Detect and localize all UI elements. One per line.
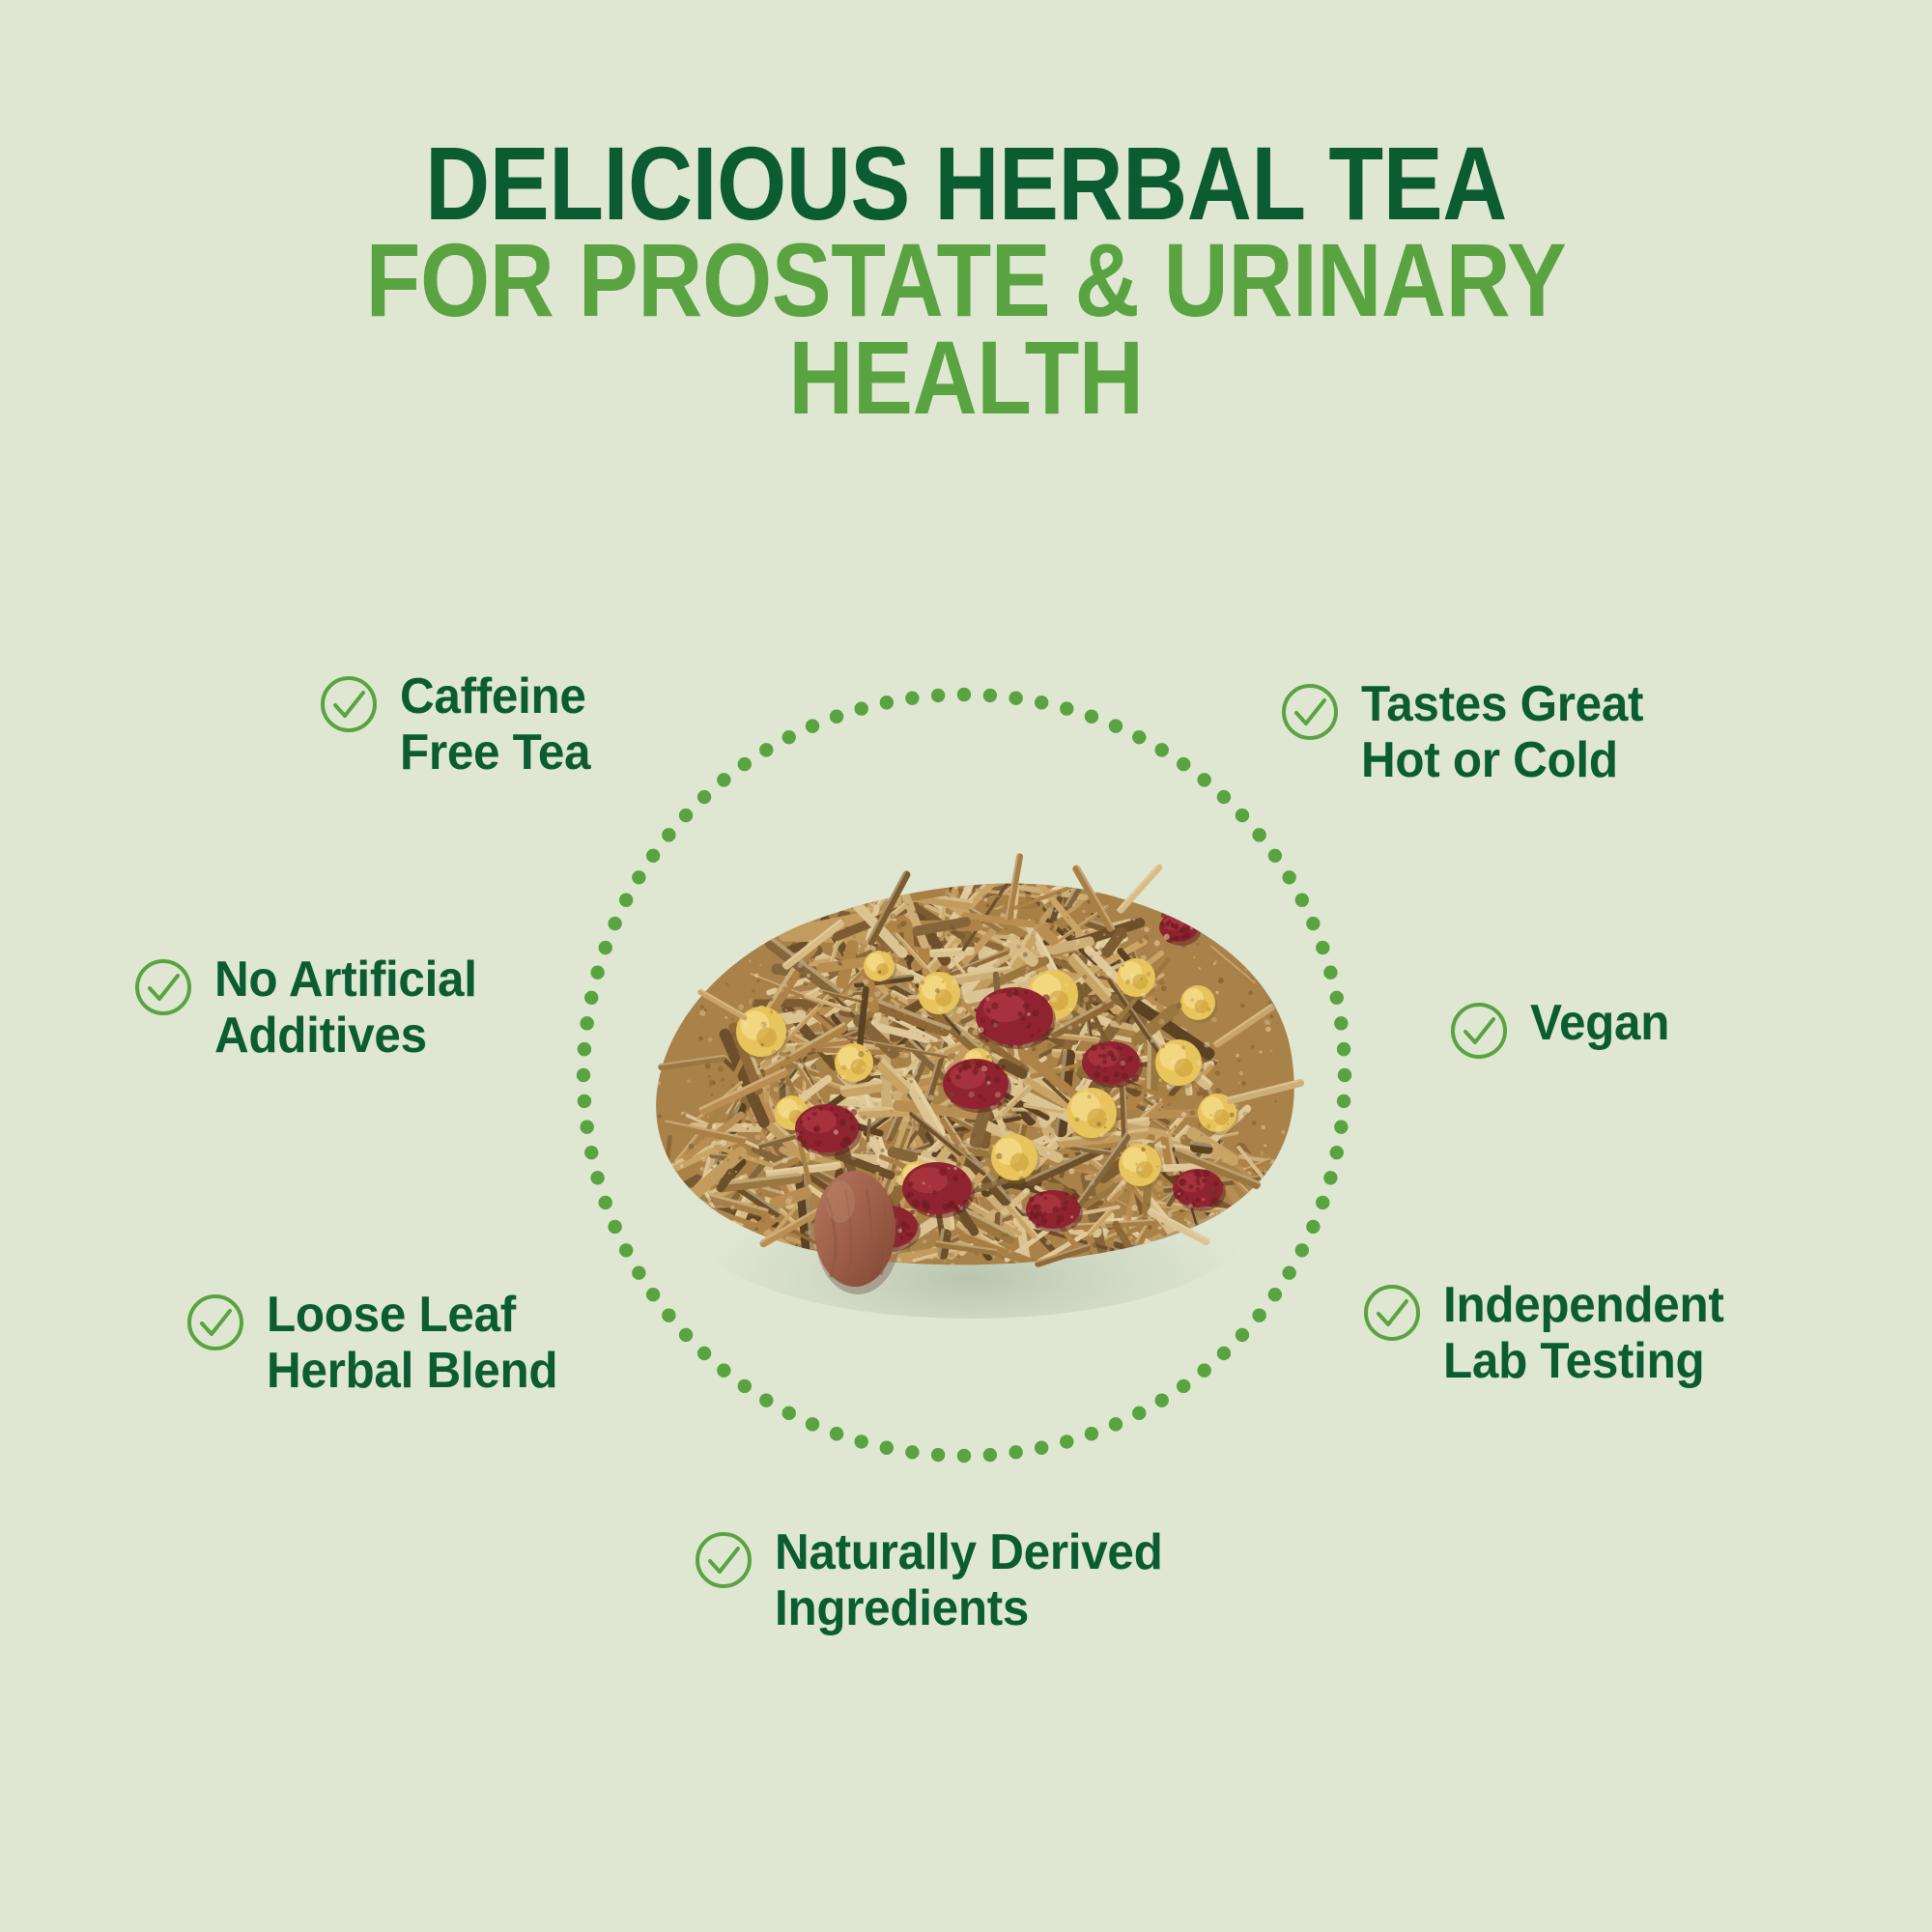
check-circle-icon	[694, 1530, 753, 1590]
feature-label: Caffeine Free Tea	[400, 668, 590, 781]
feature-caffeine-free: Caffeine Free Tea	[319, 668, 601, 781]
product-dotted-ring	[577, 688, 1351, 1463]
headline-line-3: HEALTH	[135, 329, 1797, 426]
feature-label: Loose Leaf Herbal Blend	[267, 1287, 557, 1399]
check-circle-icon	[319, 674, 379, 734]
check-circle-icon	[185, 1293, 245, 1352]
feature-label: Independent Lab Testing	[1443, 1277, 1724, 1389]
check-circle-icon	[1449, 1001, 1509, 1061]
check-circle-icon	[1362, 1283, 1422, 1343]
check-circle-icon	[133, 957, 193, 1017]
feature-independent-lab-testing: Independent Lab Testing	[1362, 1277, 1739, 1389]
headline-line-2: FOR PROSTATE & URINARY	[135, 232, 1797, 328]
feature-tastes-great-hot-or-cold: Tastes Great Hot or Cold	[1280, 676, 1659, 788]
feature-naturally-derived-ingredients: Naturally Derived Ingredients	[694, 1524, 1183, 1636]
feature-loose-leaf-herbal-blend: Loose Leaf Herbal Blend	[185, 1287, 573, 1399]
feature-label: Tastes Great Hot or Cold	[1361, 676, 1643, 788]
check-circle-icon	[1280, 682, 1340, 742]
feature-vegan: Vegan	[1449, 995, 1677, 1061]
feature-label: Vegan	[1530, 995, 1669, 1051]
feature-label: No Artificial Additives	[214, 952, 477, 1064]
headline-line-1: DELICIOUS HERBAL TEA	[135, 135, 1797, 232]
feature-no-artificial-additives: No Artificial Additives	[133, 952, 491, 1064]
page-title: DELICIOUS HERBAL TEA FOR PROSTATE & URIN…	[0, 135, 1932, 426]
feature-label: Naturally Derived Ingredients	[775, 1524, 1163, 1636]
